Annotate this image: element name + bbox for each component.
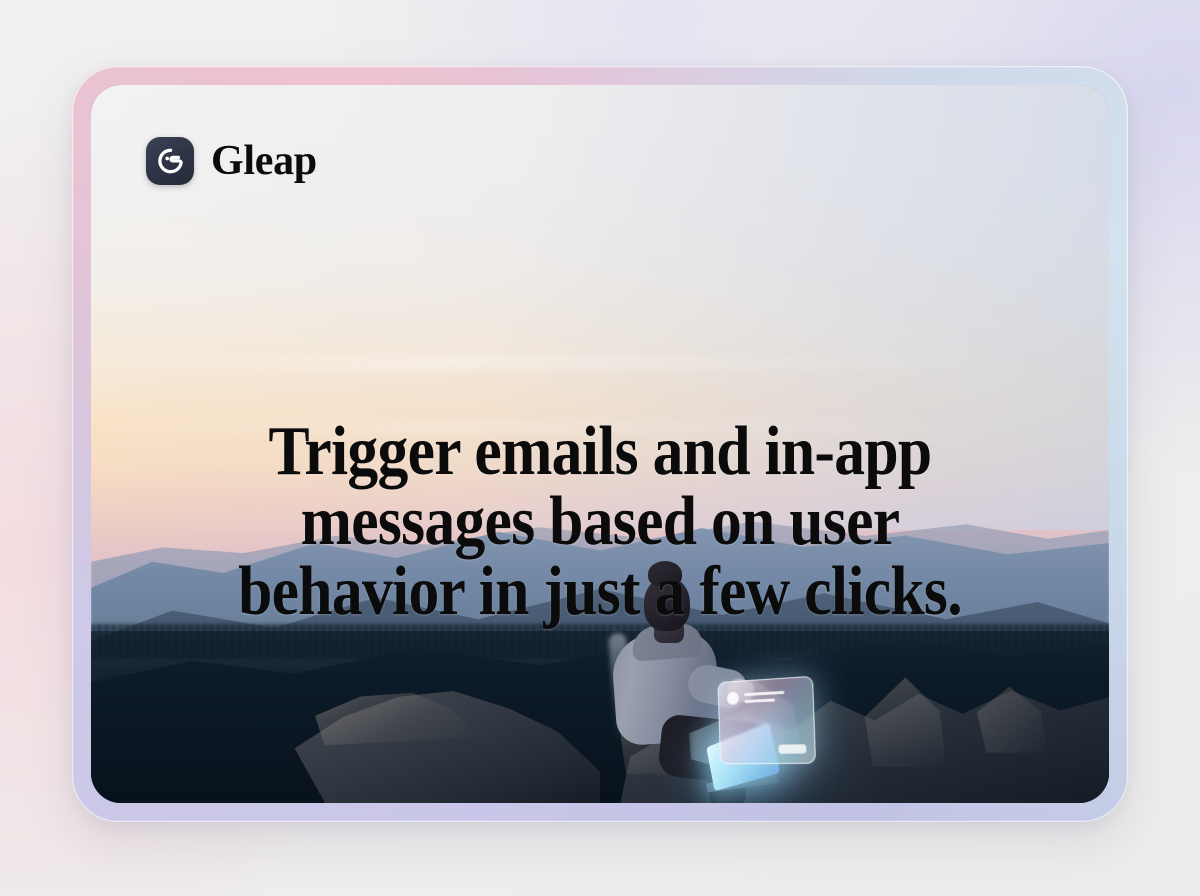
page-root: Trigger emails and in-app messages based… xyxy=(0,0,1200,896)
user-avatar-circle-icon xyxy=(727,692,739,705)
holo-text-line-2 xyxy=(744,698,774,703)
hero-panel: Trigger emails and in-app messages based… xyxy=(91,85,1109,803)
holo-text-line-1 xyxy=(744,691,784,696)
holo-action-button xyxy=(778,744,806,754)
page-title: Trigger emails and in-app messages based… xyxy=(152,417,1048,627)
brand-lockup: Gleap xyxy=(146,137,317,185)
holographic-card xyxy=(717,676,816,765)
brand-name: Gleap xyxy=(211,140,317,182)
gleap-smiley-logo-icon xyxy=(146,137,194,185)
cloud-haze-band-1 xyxy=(91,358,1109,367)
gradient-frame: Trigger emails and in-app messages based… xyxy=(72,66,1128,822)
